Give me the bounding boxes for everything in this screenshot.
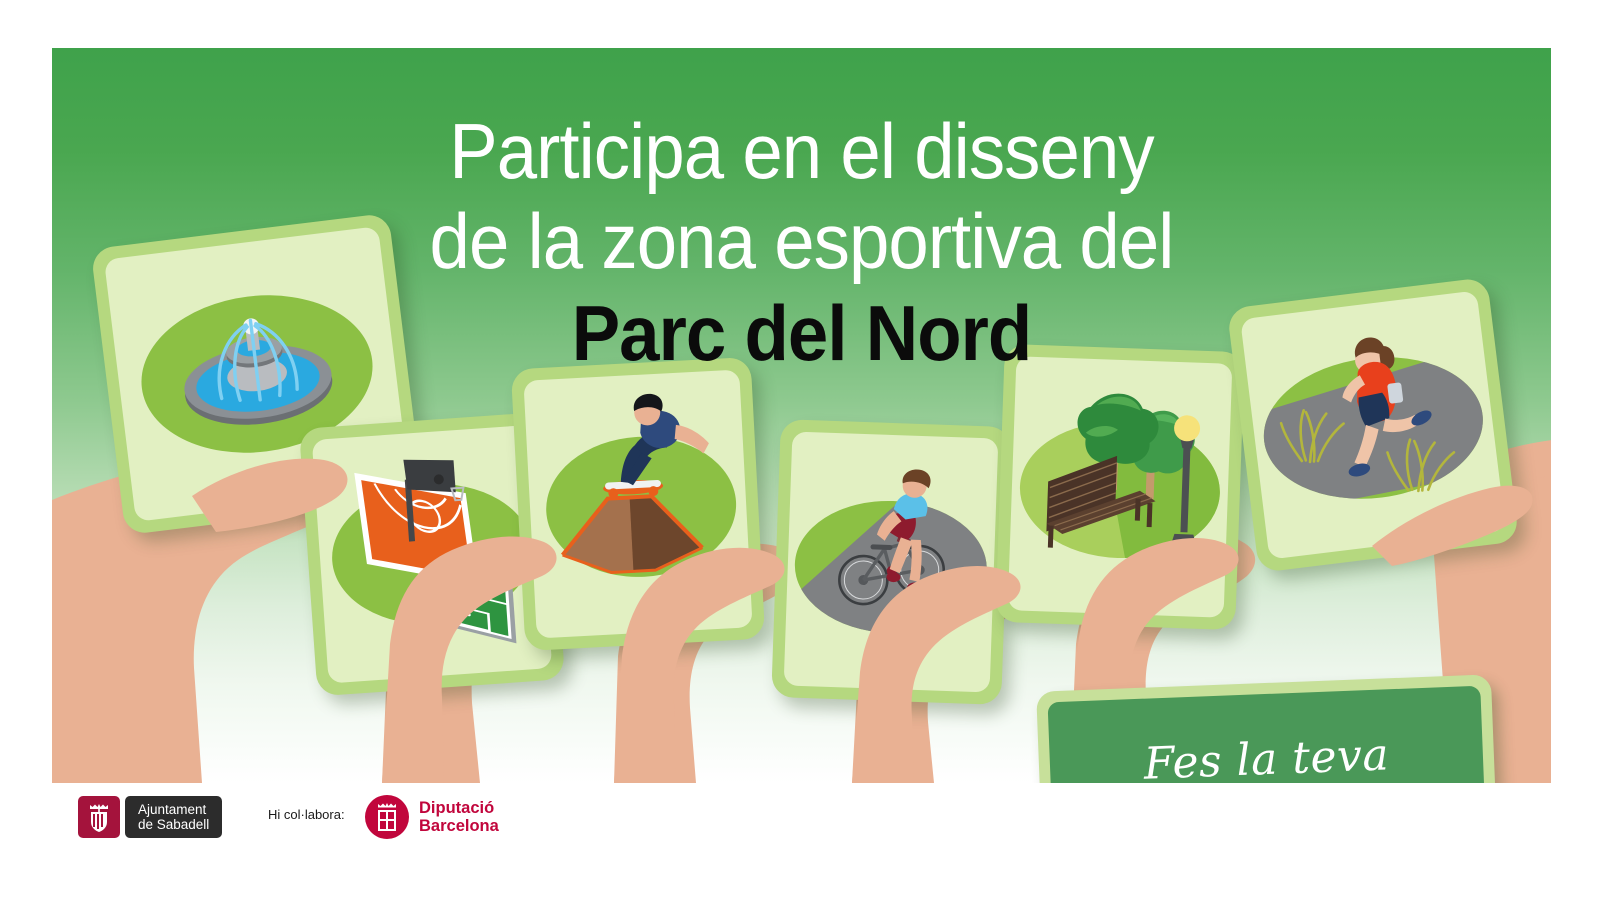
diputacio-label: Diputació Barcelona xyxy=(419,799,499,836)
fingertip-two xyxy=(382,536,557,783)
sabadell-line-1: Ajuntament xyxy=(138,802,209,818)
fingertip-three xyxy=(614,548,785,783)
sabadell-logo[interactable]: Ajuntament de Sabadell xyxy=(78,796,222,838)
fingertip-four xyxy=(852,566,1021,783)
fingertips-layer xyxy=(52,48,1551,783)
cta-line-1: Fes la teva xyxy=(1143,729,1390,789)
diputacio-line-1: Diputació xyxy=(419,799,499,818)
poster-canvas: Participa en el disseny de la zona espor… xyxy=(0,0,1600,900)
fingertip-six xyxy=(1372,486,1533,566)
fingertip-one xyxy=(192,459,347,532)
sabadell-label: Ajuntament de Sabadell xyxy=(125,796,222,838)
diputacio-seal-icon xyxy=(365,795,409,839)
sabadell-crest-icon xyxy=(78,796,120,838)
poster-green-panel: Participa en el disseny de la zona espor… xyxy=(52,48,1551,783)
sabadell-line-2: de Sabadell xyxy=(138,817,209,833)
footer-logos: Ajuntament de Sabadell Hi col·labora: xyxy=(0,783,1600,900)
collaborate-label: Hi col·labora: xyxy=(268,807,345,822)
diputacio-line-2: Barcelona xyxy=(419,817,499,836)
diputacio-logo[interactable]: Diputació Barcelona xyxy=(365,795,499,839)
